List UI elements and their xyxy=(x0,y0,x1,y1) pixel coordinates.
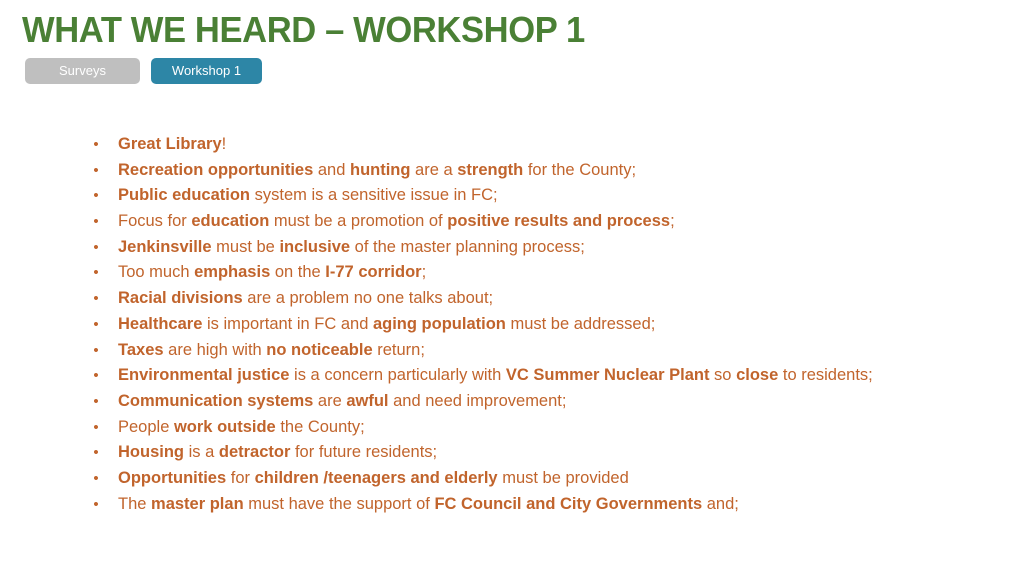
emphasis-text: close xyxy=(736,366,778,384)
list-item: •Recreation opportunities and hunting ar… xyxy=(88,158,1008,184)
plain-text: ; xyxy=(670,212,675,230)
emphasis-text: Opportunities xyxy=(118,469,226,487)
list-item-text: Too much emphasis on the I-77 corridor; xyxy=(118,263,426,281)
emphasis-text: children /teenagers and elderly xyxy=(255,469,498,487)
plain-text: so xyxy=(709,366,736,384)
list-item: •Taxes are high with no noticeable retur… xyxy=(88,338,1008,364)
emphasis-text: I-77 corridor xyxy=(325,263,421,281)
bullet-dot-icon: • xyxy=(91,286,101,312)
list-item: •Great Library! xyxy=(88,132,1008,158)
emphasis-text: Recreation opportunities xyxy=(118,161,313,179)
bullet-dot-icon: • xyxy=(91,312,101,338)
emphasis-text: awful xyxy=(346,392,388,410)
plain-text: and; xyxy=(702,495,739,513)
plain-text: are a xyxy=(410,161,457,179)
bullet-dot-icon: • xyxy=(91,209,101,235)
bullet-dot-icon: • xyxy=(91,389,101,415)
plain-text: is a concern particularly with xyxy=(289,366,505,384)
bullet-dot-icon: • xyxy=(91,466,101,492)
list-item-text: Racial divisions are a problem no one ta… xyxy=(118,289,493,307)
emphasis-text: Jenkinsville xyxy=(118,238,212,256)
emphasis-text: Taxes xyxy=(118,341,164,359)
plain-text: to residents; xyxy=(778,366,872,384)
plain-text: must be xyxy=(212,238,280,256)
emphasis-text: work outside xyxy=(174,418,276,436)
plain-text: Too much xyxy=(118,263,194,281)
plain-text: ! xyxy=(222,135,227,153)
plain-text: are xyxy=(313,392,346,410)
page-title: WHAT WE HEARD – WORKSHOP 1 xyxy=(22,8,585,52)
emphasis-text: Communication systems xyxy=(118,392,313,410)
list-item-text: People work outside the County; xyxy=(118,418,365,436)
emphasis-text: strength xyxy=(457,161,523,179)
emphasis-text: VC Summer Nuclear Plant xyxy=(506,366,710,384)
list-item-text: Environmental justice is a concern parti… xyxy=(118,366,873,384)
emphasis-text: Racial divisions xyxy=(118,289,243,307)
plain-text: are a problem no one talks about; xyxy=(243,289,493,307)
bullet-dot-icon: • xyxy=(91,440,101,466)
list-item-text: Jenkinsville must be inclusive of the ma… xyxy=(118,238,585,256)
bullet-dot-icon: • xyxy=(91,415,101,441)
bullet-dot-icon: • xyxy=(91,183,101,209)
emphasis-text: no noticeable xyxy=(266,341,372,359)
list-item-text: Healthcare is important in FC and aging … xyxy=(118,315,655,333)
bullet-dot-icon: • xyxy=(91,132,101,158)
list-item-text: Public education system is a sensitive i… xyxy=(118,186,498,204)
list-item: •Public education system is a sensitive … xyxy=(88,183,1008,209)
emphasis-text: detractor xyxy=(219,443,291,461)
plain-text: the County; xyxy=(276,418,365,436)
list-item: •Focus for education must be a promotion… xyxy=(88,209,1008,235)
emphasis-text: Housing xyxy=(118,443,184,461)
plain-text: Focus for xyxy=(118,212,191,230)
emphasis-text: Healthcare xyxy=(118,315,202,333)
list-item: •Environmental justice is a concern part… xyxy=(88,363,1008,389)
list-item: •The master plan must have the support o… xyxy=(88,492,1008,518)
plain-text: and xyxy=(313,161,350,179)
bullet-dot-icon: • xyxy=(91,363,101,389)
plain-text: must be addressed; xyxy=(506,315,656,333)
emphasis-text: FC Council and City Governments xyxy=(434,495,702,513)
list-item-text: The master plan must have the support of… xyxy=(118,495,739,513)
plain-text: and need improvement; xyxy=(389,392,567,410)
emphasis-text: Environmental justice xyxy=(118,366,289,384)
bullet-dot-icon: • xyxy=(91,492,101,518)
plain-text: is a xyxy=(184,443,219,461)
bullet-list: •Great Library!•Recreation opportunities… xyxy=(88,132,1008,517)
emphasis-text: aging population xyxy=(373,315,506,333)
bullet-dot-icon: • xyxy=(91,338,101,364)
plain-text: on the xyxy=(270,263,325,281)
plain-text: for future residents; xyxy=(290,443,437,461)
emphasis-text: Great Library xyxy=(118,135,222,153)
plain-text: for the County; xyxy=(523,161,636,179)
list-item-text: Great Library! xyxy=(118,135,226,153)
emphasis-text: inclusive xyxy=(279,238,350,256)
list-item-text: Communication systems are awful and need… xyxy=(118,392,566,410)
emphasis-text: positive results and process xyxy=(447,212,670,230)
bullet-dot-icon: • xyxy=(91,158,101,184)
list-item-text: Opportunities for children /teenagers an… xyxy=(118,469,629,487)
plain-text: must have the support of xyxy=(244,495,435,513)
emphasis-text: master plan xyxy=(151,495,244,513)
bullet-dot-icon: • xyxy=(91,260,101,286)
list-item-text: Recreation opportunities and hunting are… xyxy=(118,161,636,179)
plain-text: are high with xyxy=(164,341,267,359)
plain-text: return; xyxy=(373,341,425,359)
plain-text: ; xyxy=(422,263,427,281)
bullet-dot-icon: • xyxy=(91,235,101,261)
tab-workshop-1[interactable]: Workshop 1 xyxy=(151,58,262,84)
list-item: •Opportunities for children /teenagers a… xyxy=(88,466,1008,492)
emphasis-text: education xyxy=(191,212,269,230)
list-item: •Racial divisions are a problem no one t… xyxy=(88,286,1008,312)
list-item-text: Taxes are high with no noticeable return… xyxy=(118,341,425,359)
list-item: •People work outside the County; xyxy=(88,415,1008,441)
tab-bar: Surveys Workshop 1 xyxy=(25,58,262,84)
plain-text: The xyxy=(118,495,151,513)
plain-text: must be a promotion of xyxy=(269,212,447,230)
list-item: •Healthcare is important in FC and aging… xyxy=(88,312,1008,338)
plain-text: of the master planning process; xyxy=(350,238,585,256)
emphasis-text: hunting xyxy=(350,161,410,179)
plain-text: is important in FC and xyxy=(202,315,373,333)
list-item-text: Focus for education must be a promotion … xyxy=(118,212,675,230)
list-item-text: Housing is a detractor for future reside… xyxy=(118,443,437,461)
emphasis-text: Public education xyxy=(118,186,250,204)
plain-text: system is a sensitive issue in FC; xyxy=(250,186,498,204)
plain-text: People xyxy=(118,418,174,436)
list-item: •Housing is a detractor for future resid… xyxy=(88,440,1008,466)
emphasis-text: emphasis xyxy=(194,263,270,281)
list-item: •Too much emphasis on the I-77 corridor; xyxy=(88,260,1008,286)
list-item: •Jenkinsville must be inclusive of the m… xyxy=(88,235,1008,261)
plain-text: must be provided xyxy=(498,469,629,487)
list-item: •Communication systems are awful and nee… xyxy=(88,389,1008,415)
slide: WHAT WE HEARD – WORKSHOP 1 Surveys Works… xyxy=(0,0,1024,576)
plain-text: for xyxy=(226,469,254,487)
tab-surveys[interactable]: Surveys xyxy=(25,58,140,84)
